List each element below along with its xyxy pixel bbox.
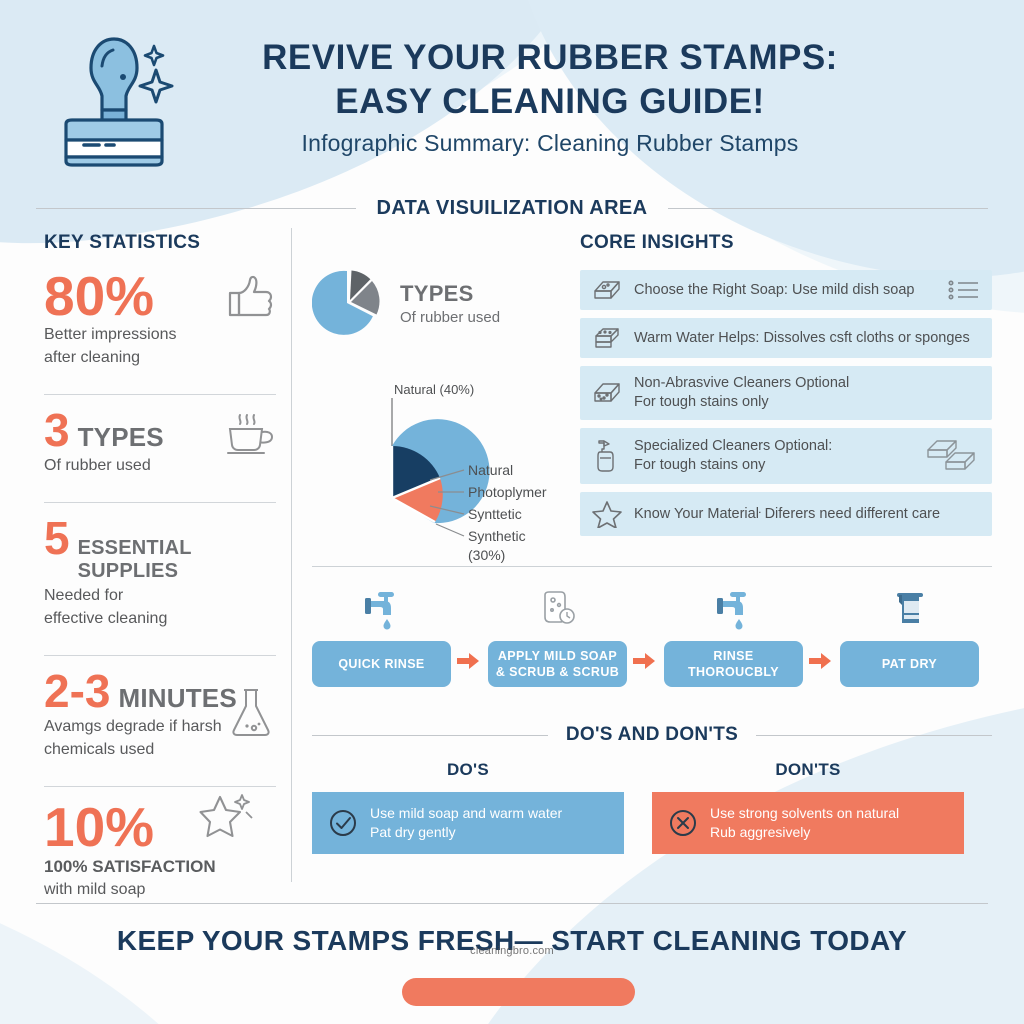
footer-divider <box>36 903 988 904</box>
donts-text: Use strong solvents on natural Rub aggre… <box>710 804 899 842</box>
stat-item: 80% Better impressions after cleaning <box>44 270 276 382</box>
soap-timer-icon <box>488 585 627 631</box>
pie-caption-title: TYPES <box>400 281 500 307</box>
stat-unit: ESSENTIAL SUPPLIES <box>78 537 276 583</box>
faucet-icon <box>664 585 803 631</box>
key-statistics-column: KEY STATISTICS 80% Better impressions af… <box>44 232 276 926</box>
stat-item: 3 TYPES Of rubber used <box>44 394 276 490</box>
flow-step-3[interactable]: RINSE THOROUCBLY <box>664 585 803 687</box>
flow-step-label-line1: APPLY MILD SOAP <box>498 649 617 663</box>
core-insights-column: CORE INSIGHTS Choose the Right Soap: Use… <box>580 232 992 544</box>
insight-text-line1: Specialized Cleaners Optional: <box>634 437 832 456</box>
pie-legend-synttetic: Synttetic <box>468 506 522 522</box>
donts-title: DON'TS <box>652 760 964 780</box>
pie-legend-synthetic-pct: (30%) <box>468 547 505 563</box>
column-divider <box>291 228 292 882</box>
flow-step-1[interactable]: QUICK RINSE <box>312 585 451 687</box>
band-rule-right <box>668 208 988 209</box>
stat-number: 2-3 <box>44 670 110 714</box>
flow-step-label-line1: RINSE <box>713 649 753 663</box>
stat-item: 2-3 MINUTES Avamgs degrade if harsh chem… <box>44 655 276 774</box>
band-label: DATA VISUILIZATION AREA <box>376 197 647 220</box>
pie-legend-natural: Natural <box>468 462 513 478</box>
small-pie-block: TYPES Of rubber used <box>312 268 574 338</box>
x-circle-icon <box>668 808 698 838</box>
insight-text-block: Non-Abrasvive Cleaners Optional For toug… <box>634 374 849 412</box>
dd-rule-left <box>312 735 548 736</box>
dos-title: DO'S <box>312 760 624 780</box>
page-title-line2: EASY CLEANING GUIDE! <box>200 80 900 124</box>
flow-step-label: APPLY MILD SOAP & SCRUB & SCRUB <box>488 641 627 687</box>
key-statistics-heading: KEY STATISTICS <box>44 232 276 254</box>
flow-step-label-line1: QUICK RINSE <box>338 656 424 672</box>
core-insights-heading: CORE INSIGHTS <box>580 232 992 254</box>
flow-step-label: PAT DRY <box>840 641 979 687</box>
insight-row[interactable]: Specialized Cleaners Optional: For tough… <box>580 428 992 484</box>
insight-text: Warm Water Helps: Dissolves csft cloths … <box>634 329 970 348</box>
stat-number: 3 <box>44 409 70 453</box>
cleaning-process-flow: QUICK RINSE APPLY MILD SOAP & SCRUB & <box>312 585 992 695</box>
pie-callout-label: Natural (40%) <box>394 382 474 397</box>
donts-column: DON'TS Use strong solvents on natural Ru… <box>652 760 964 854</box>
stat-desc-line1: Needed for <box>44 586 276 606</box>
flow-step-label-line1: PAT DRY <box>882 656 937 672</box>
insight-text-line1: Non-Abrasvive Cleaners Optional <box>634 374 849 393</box>
dd-rule-right <box>756 735 992 736</box>
stat-unit: TYPES <box>78 422 164 453</box>
types-pie-chart-small <box>312 268 382 338</box>
star-sparkle-icon <box>196 787 254 839</box>
stat-desc-line1: Better impressions <box>44 325 276 345</box>
donts-line1: Use strong solvents on natural <box>710 805 899 821</box>
dos-line2: Pat dry gently <box>370 824 456 840</box>
sponge-icon <box>592 380 622 406</box>
right-arrow-icon <box>633 651 655 671</box>
header: REVIVE YOUR RUBBER STAMPS: EASY CLEANING… <box>0 0 1024 185</box>
insight-text: Choose the Right Soap: Use mild dish soa… <box>634 281 915 300</box>
stat-number: 5 <box>44 517 70 561</box>
donts-line2: Rub aggresively <box>710 824 810 840</box>
towel-icon <box>840 585 979 631</box>
thumbs-up-icon <box>222 274 276 320</box>
flask-icon <box>228 686 274 738</box>
faucet-icon <box>312 585 451 631</box>
page-subtitle: Infographic Summary: Cleaning Rubber Sta… <box>200 130 900 157</box>
stat-desc-line2: effective cleaning <box>44 609 276 629</box>
right-arrow-icon <box>809 651 831 671</box>
infographic-canvas: REVIVE YOUR RUBBER STAMPS: EASY CLEANING… <box>0 0 1024 1024</box>
star-icon <box>592 500 622 528</box>
bullet-list-icon <box>948 278 980 302</box>
insight-row[interactable]: Non-Abrasvive Cleaners Optional For toug… <box>580 366 992 420</box>
soap-bar-icon <box>592 278 622 302</box>
dos-text: Use mild soap and warm water Pat dry gen… <box>370 804 562 842</box>
band-rule-left <box>36 208 356 209</box>
coffee-cup-icon <box>220 409 276 457</box>
flow-step-label-line2: & SCRUB & SCRUB <box>496 665 619 679</box>
stat-desc-line2: after cleaning <box>44 348 276 368</box>
check-circle-icon <box>328 808 358 838</box>
title-block: REVIVE YOUR RUBBER STAMPS: EASY CLEANING… <box>200 36 900 157</box>
dos-donts-band: DO'S AND DON'TS <box>312 722 992 748</box>
dos-line1: Use mild soap and warm water <box>370 805 562 821</box>
stat-unit: MINUTES <box>118 683 236 714</box>
watermark: cleaningbro.com <box>0 945 1024 957</box>
flow-step-4[interactable]: PAT DRY <box>840 585 979 687</box>
rubber-types-pie-chart: Natural (40%) Natural Photoplymer <box>312 380 574 570</box>
stat-desc-line2: with mild soap <box>44 880 276 900</box>
insight-text-line2: For tough stains only <box>634 393 849 412</box>
rubber-stamp-icon <box>44 24 184 169</box>
dos-donts-band-label: DO'S AND DON'TS <box>566 724 738 746</box>
flow-step-label: RINSE THOROUCBLY <box>664 641 803 687</box>
pie-legend-photoplymer: Photoplymer <box>468 484 547 500</box>
flow-step-label-line2: THOROUCBLY <box>688 665 779 679</box>
stat-desc-line2: chemicals used <box>44 740 276 760</box>
scrub-brush-icon <box>592 326 622 350</box>
stat-number: 80% <box>44 270 154 322</box>
donts-box: Use strong solvents on natural Rub aggre… <box>652 792 964 854</box>
cta-pill[interactable] <box>402 978 635 1006</box>
dos-column: DO'S Use mild soap and warm water Pat dr… <box>312 760 624 854</box>
insight-row[interactable]: Choose the Right Soap: Use mild dish soa… <box>580 270 992 310</box>
stat-desc-line1: 100% SATISFACTION <box>44 857 276 877</box>
flow-step-label: QUICK RINSE <box>312 641 451 687</box>
flow-step-2[interactable]: APPLY MILD SOAP & SCRUB & SCRUB <box>488 585 627 687</box>
dos-box: Use mild soap and warm water Pat dry gen… <box>312 792 624 854</box>
charts-column: TYPES Of rubber used Natural (40%) <box>312 268 574 338</box>
pie-caption-sub: Of rubber used <box>400 309 500 326</box>
pie-legend-synthetic: Synthetic <box>468 528 526 544</box>
stat-desc-line1: Of rubber used <box>44 456 276 476</box>
right-arrow-icon <box>457 651 479 671</box>
flow-divider <box>312 566 992 567</box>
two-soap-bars-icon <box>924 438 980 474</box>
small-pie-caption: TYPES Of rubber used <box>400 281 500 326</box>
stat-item: 10% 100% SATISFACTION with mild soap <box>44 786 276 913</box>
insight-text-block: Specialized Cleaners Optional: For tough… <box>634 437 832 475</box>
spray-bottle-icon <box>592 439 622 473</box>
insight-text: Know Your Materiaŀ Diferers need differe… <box>634 505 940 524</box>
section-band-data-visualization: DATA VISUILIZATION AREA <box>36 194 988 222</box>
page-title-line1: REVIVE YOUR RUBBER STAMPS: <box>200 36 900 80</box>
insight-row[interactable]: Warm Water Helps: Dissolves csft cloths … <box>580 318 992 358</box>
stat-item: 5 ESSENTIAL SUPPLIES Needed for effectiv… <box>44 502 276 643</box>
insight-text-line2: For tough stains ony <box>634 456 832 475</box>
stat-number: 10% <box>44 801 154 853</box>
insight-row[interactable]: Know Your Materiaŀ Diferers need differe… <box>580 492 992 536</box>
